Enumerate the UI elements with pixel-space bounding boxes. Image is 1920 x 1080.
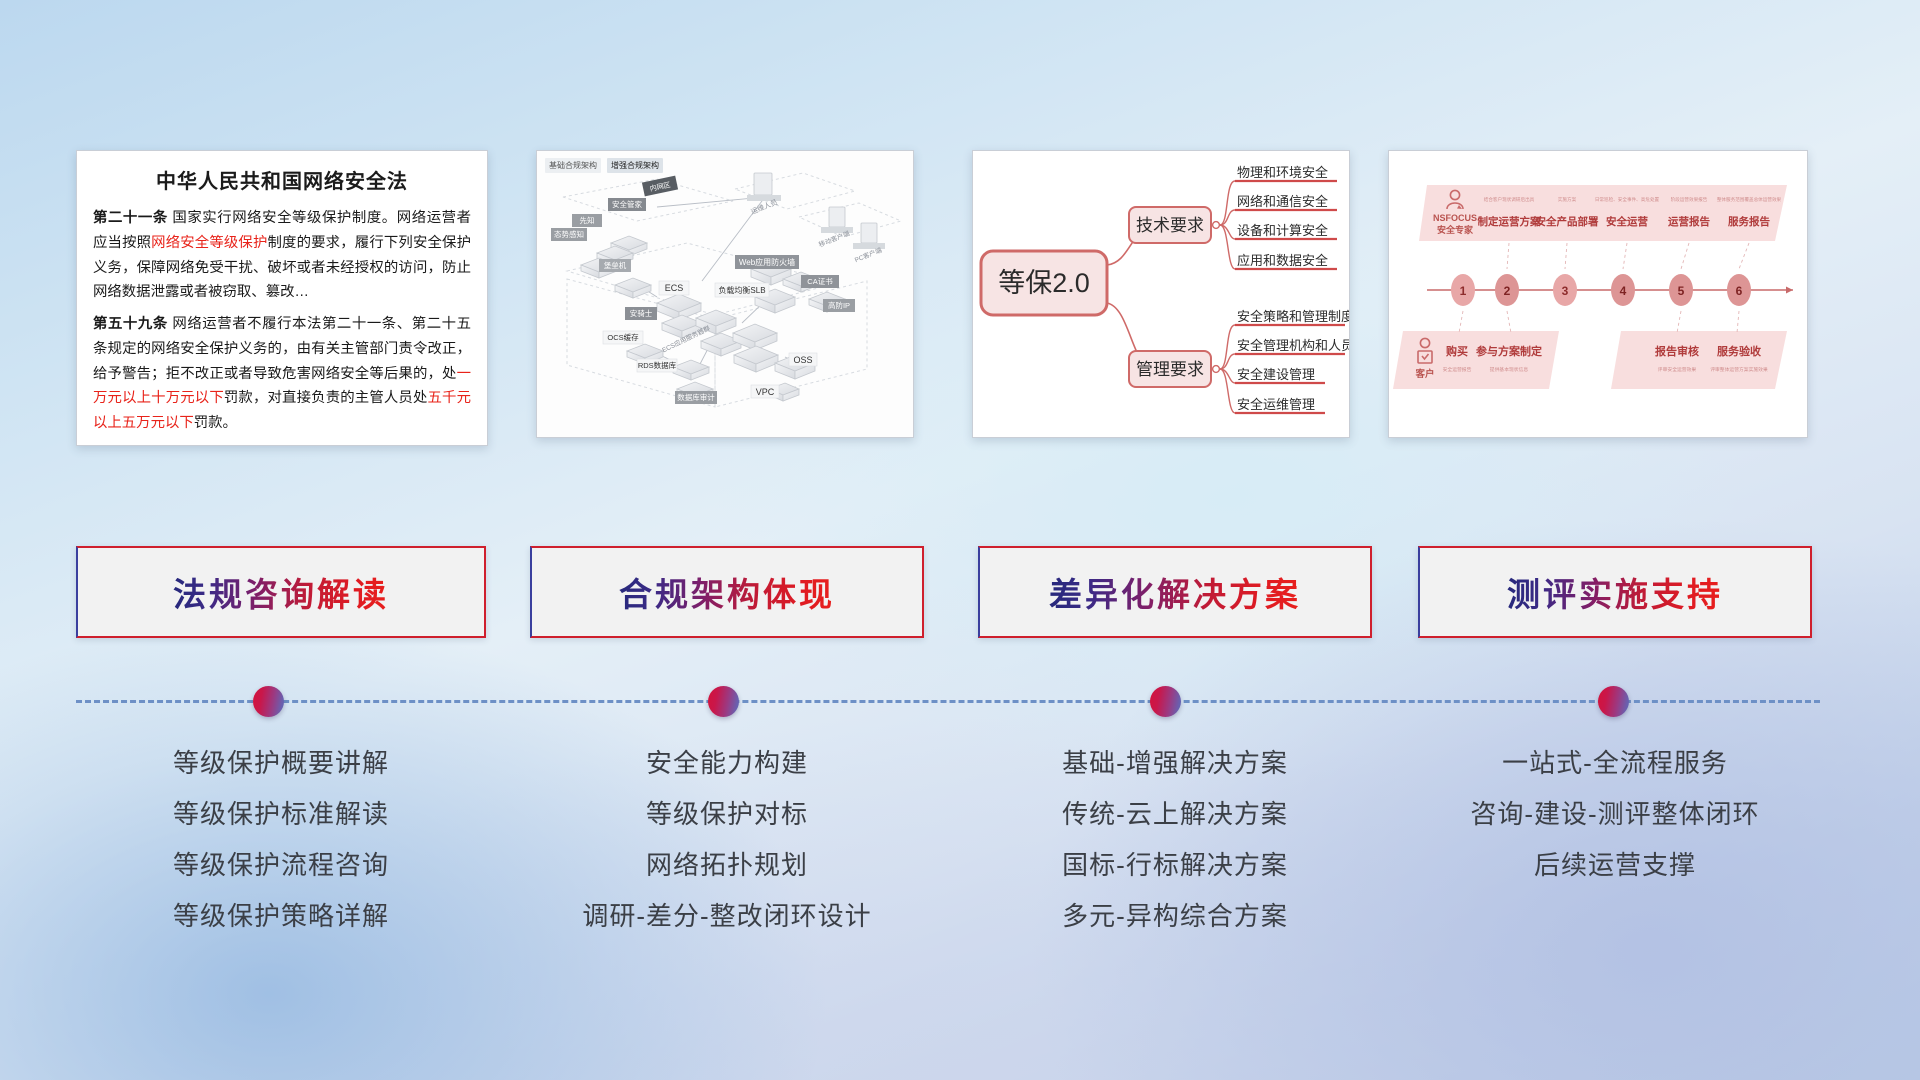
svg-text:堡垒机: 堡垒机 — [604, 260, 627, 270]
step-label: 服务报告 — [1728, 215, 1770, 228]
list-item: 等级保护概要讲解 — [76, 738, 486, 789]
mindmap-branch-technical[interactable]: 技术要求 — [1129, 207, 1219, 243]
timeline-dashed-line — [76, 700, 1820, 703]
svg-text:OSS: OSS — [793, 355, 812, 365]
mindmap-leaf: 网络和通信安全 — [1237, 194, 1328, 209]
card-cybersecurity-law[interactable]: 中华人民共和国网络安全法 第二十一条 国家实行网络安全等级保护制度。网络运营者应… — [76, 150, 488, 446]
step-label: 制定运营方案 — [1478, 215, 1541, 228]
section-list-4: 一站式-全流程服务 咨询-建设-测评整体闭环 后续运营支撑 — [1418, 738, 1812, 891]
list-item: 等级保护流程咨询 — [76, 840, 486, 891]
svg-text:先知: 先知 — [580, 215, 595, 225]
top-captions: 结合客户现状调研后出具 实施方案 日常巡检、安全事件、高危处置 阶段运营效果报告… — [1484, 196, 1782, 203]
list-item: 等级保护标准解读 — [76, 789, 486, 840]
section-list-2: 安全能力构建 等级保护对标 网络拓扑规划 调研-差分-整改闭环设计 — [530, 738, 924, 942]
svg-text:CA证书: CA证书 — [807, 276, 833, 286]
section-title-text: 法规咨询解读 — [173, 568, 389, 616]
svg-text:RDS数据库: RDS数据库 — [638, 360, 677, 370]
marker-number: 2 — [1504, 284, 1511, 298]
section-lists-row: 等级保护概要讲解 等级保护标准解读 等级保护流程咨询 等级保护策略详解 安全能力… — [0, 738, 1920, 988]
svg-text:数据库审计: 数据库审计 — [677, 392, 715, 402]
section-list-3: 基础-增强解决方案 传统-云上解决方案 国标-行标解决方案 多元-异构综合方案 — [978, 738, 1372, 942]
law-paragraph-59: 第五十九条 网络运营者不履行本法第二十一条、第二十五条规定的网络安全保护义务的，… — [93, 312, 471, 436]
mindmap-leaf: 设备和计算安全 — [1237, 223, 1328, 238]
mindmap-leaves-technical: 物理和环境安全 网络和通信安全 设备和计算安全 应用和数据安全 — [1235, 165, 1337, 269]
timeline-dot-4[interactable] — [1598, 686, 1629, 717]
mindmap-leaf-connectors-technical — [1220, 181, 1235, 269]
architecture-diagram: 基础合规架构 增强合规架构 — [537, 151, 913, 437]
customer-band-right — [1611, 331, 1787, 389]
svg-text:高防IP: 高防IP — [828, 300, 850, 310]
step-label: 参与方案制定 — [1476, 344, 1542, 358]
section-title-box-2[interactable]: 合规架构体现 — [530, 546, 924, 638]
timeline-dot-3[interactable] — [1150, 686, 1181, 717]
svg-text:安全管家: 安全管家 — [612, 199, 642, 209]
step-caption: 整体服务范围覆盖总体运营效果 — [1717, 196, 1782, 203]
mindmap-leaf: 安全建设管理 — [1237, 367, 1315, 382]
timeline-arrowhead — [1786, 287, 1793, 294]
svg-text:负载均衡SLB: 负载均衡SLB — [718, 285, 765, 295]
expert-name: NSFOCUS — [1433, 213, 1477, 223]
list-item: 咨询-建设-测评整体闭环 — [1418, 789, 1812, 840]
law-article-label-59: 第五十九条 — [93, 316, 168, 332]
step-caption: 结合客户现状调研后出具 — [1484, 196, 1535, 203]
list-item: 安全能力构建 — [530, 738, 924, 789]
card-mindmap-dengbao[interactable]: 等保2.0 技术要求 — [972, 150, 1350, 438]
list-item: 等级保护策略详解 — [76, 891, 486, 942]
list-item: 调研-差分-整改闭环设计 — [530, 891, 924, 942]
section-title-box-3[interactable]: 差异化解决方案 — [978, 546, 1372, 638]
section-title-box-4[interactable]: 测评实施支持 — [1418, 546, 1812, 638]
architecture-canvas: 内网区 安全管家 先知 态势感知 堡垒机 ECS 安骑士 OCS缓存 — [537, 151, 914, 438]
marker-number: 1 — [1460, 284, 1467, 298]
list-item: 传统-云上解决方案 — [978, 789, 1372, 840]
section-title-box-1[interactable]: 法规咨询解读 — [76, 546, 486, 638]
mindmap-leaf-connectors-management — [1220, 325, 1235, 413]
step-caption: 实施方案 — [1558, 196, 1577, 203]
law-seg-highlight: 网络安全等级保护 — [151, 235, 267, 251]
step-label: 安全运营 — [1606, 215, 1648, 228]
list-item: 后续运营支撑 — [1418, 840, 1812, 891]
mindmap-leaf: 安全运维管理 — [1237, 397, 1315, 412]
mindmap-connectors — [1107, 227, 1149, 369]
card-compliance-architecture[interactable]: 基础合规架构 增强合规架构 — [536, 150, 914, 438]
mindmap-leaf: 安全管理机构和人员 — [1237, 338, 1350, 353]
list-item: 国标-行标解决方案 — [978, 840, 1372, 891]
reference-cards-row: 中华人民共和国网络安全法 第二十一条 国家实行网络安全等级保护制度。网络运营者应… — [0, 150, 1920, 446]
svg-text:Web应用防火墙: Web应用防火墙 — [739, 257, 795, 267]
timeline-connector — [0, 666, 1920, 736]
law-paragraph-21: 第二十一条 国家实行网络安全等级保护制度。网络运营者应当按照网络安全等级保护制度… — [93, 206, 471, 305]
section-list-1: 等级保护概要讲解 等级保护标准解读 等级保护流程咨询 等级保护策略详解 — [76, 738, 486, 942]
step-label: 运营报告 — [1668, 215, 1710, 228]
step-caption: 评审安全运营效果 — [1658, 366, 1697, 373]
list-item: 多元-异构综合方案 — [978, 891, 1372, 942]
mindmap-branch-management[interactable]: 管理要求 — [1129, 351, 1219, 387]
expert-sub: 安全专家 — [1437, 224, 1474, 235]
law-seg: 罚款。 — [194, 415, 237, 431]
mindmap-branch-label: 管理要求 — [1136, 360, 1204, 379]
card-nsfocus-service-timeline[interactable]: NSFOCUS 安全专家 客户 结合客户现状调研后出具 实施方案 日常巡检、安全… — [1388, 150, 1808, 438]
list-item: 一站式-全流程服务 — [1418, 738, 1812, 789]
svg-text:VPC: VPC — [756, 387, 775, 397]
timeline-dot-1[interactable] — [253, 686, 284, 717]
list-item: 基础-增强解决方案 — [978, 738, 1372, 789]
svg-text:态势感知: 态势感知 — [554, 229, 584, 239]
step-caption: 日常巡检、安全事件、高危处置 — [1595, 196, 1660, 203]
list-item: 网络拓扑规划 — [530, 840, 924, 891]
step-label: 购买 — [1446, 344, 1468, 358]
step-label: 服务验收 — [1717, 344, 1761, 358]
step-caption: 安全运营报告 — [1443, 366, 1472, 373]
section-title-text: 测评实施支持 — [1507, 568, 1723, 616]
law-title: 中华人民共和国网络安全法 — [93, 165, 471, 194]
svg-text:ECS: ECS — [665, 283, 684, 293]
marker-number: 3 — [1562, 284, 1569, 298]
mindmap-branch-label: 技术要求 — [1136, 216, 1204, 235]
bottom-captions: 安全运营报告 提供基本现状信息 评审安全运营效果 评审整体运营方案实施效果 — [1443, 366, 1768, 373]
mindmap-leaves-management: 安全策略和管理制度 安全管理机构和人员 安全建设管理 安全运维管理 — [1235, 309, 1350, 413]
step-label: 安全产品部署 — [1536, 215, 1599, 228]
nsfocus-canvas: NSFOCUS 安全专家 客户 结合客户现状调研后出具 实施方案 日常巡检、安全… — [1389, 151, 1808, 438]
marker-number: 4 — [1620, 284, 1627, 298]
section-title-text: 合规架构体现 — [619, 568, 835, 616]
marker-number: 5 — [1678, 284, 1685, 298]
step-caption: 阶段运营效果报告 — [1671, 196, 1708, 203]
law-article-label-21: 第二十一条 — [93, 210, 168, 226]
list-item: 等级保护对标 — [530, 789, 924, 840]
step-caption: 评审整体运营方案实施效果 — [1710, 366, 1768, 373]
mindmap-diagram: 等保2.0 技术要求 — [973, 151, 1349, 437]
marker-number: 6 — [1736, 284, 1743, 298]
svg-text:安骑士: 安骑士 — [630, 308, 653, 318]
timeline-dot-2[interactable] — [708, 686, 739, 717]
mindmap-leaf: 安全策略和管理制度 — [1237, 309, 1350, 324]
mindmap-root-node: 等保2.0 — [981, 251, 1107, 315]
customer-name: 客户 — [1414, 368, 1434, 380]
nsfocus-timeline-diagram: NSFOCUS 安全专家 客户 结合客户现状调研后出具 实施方案 日常巡检、安全… — [1389, 151, 1807, 437]
mindmap-root-label: 等保2.0 — [998, 268, 1090, 298]
step-label: 报告审核 — [1655, 344, 1699, 358]
mindmap-leaf: 应用和数据安全 — [1237, 253, 1328, 268]
law-seg: 罚款，对直接负责的主管人员处 — [224, 390, 428, 406]
mindmap-canvas: 等保2.0 技术要求 — [973, 151, 1350, 438]
section-title-text: 差异化解决方案 — [1049, 568, 1301, 616]
mindmap-leaf: 物理和环境安全 — [1237, 165, 1328, 180]
law-document: 中华人民共和国网络安全法 第二十一条 国家实行网络安全等级保护制度。网络运营者应… — [77, 151, 487, 446]
step-caption: 提供基本现状信息 — [1490, 366, 1529, 373]
svg-text:OCS缓存: OCS缓存 — [607, 332, 639, 342]
section-titles-row: 法规咨询解读 合规架构体现 差异化解决方案 测评实施支持 — [0, 546, 1920, 638]
